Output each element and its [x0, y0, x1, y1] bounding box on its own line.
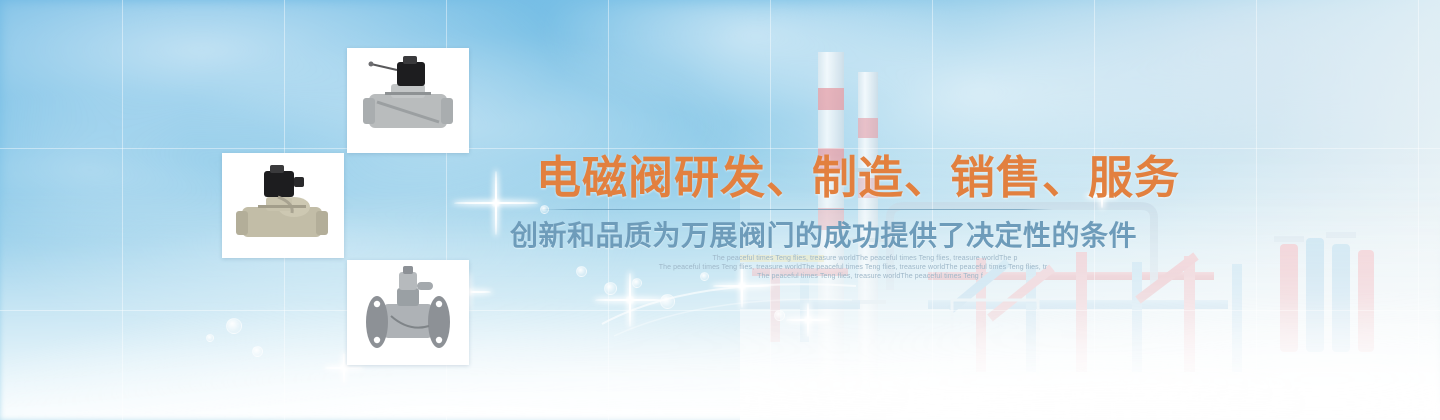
hero-banner: 电磁阀研发、制造、销售、服务 创新和品质为万展阀门的成功提供了决定性的条件 Th…	[0, 0, 1440, 420]
filler-line-1: The peaceful times Teng flies, treasure …	[660, 254, 1070, 263]
headline-divider	[541, 209, 1053, 210]
banner-subheadline: 创新和品质为万展阀门的成功提供了决定性的条件	[510, 222, 1137, 250]
filler-line-2: The peaceful times Teng flies, treasure …	[650, 263, 1070, 272]
banner-filler-text: The peaceful times Teng flies, treasure …	[650, 254, 1070, 281]
banner-headline: 电磁阀研发、制造、销售、服务	[536, 155, 1180, 200]
filler-line-3: The peaceful times Teng flies, treasure …	[670, 272, 1070, 281]
banner-copy: 电磁阀研发、制造、销售、服务 创新和品质为万展阀门的成功提供了决定性的条件 Th…	[0, 0, 1440, 420]
